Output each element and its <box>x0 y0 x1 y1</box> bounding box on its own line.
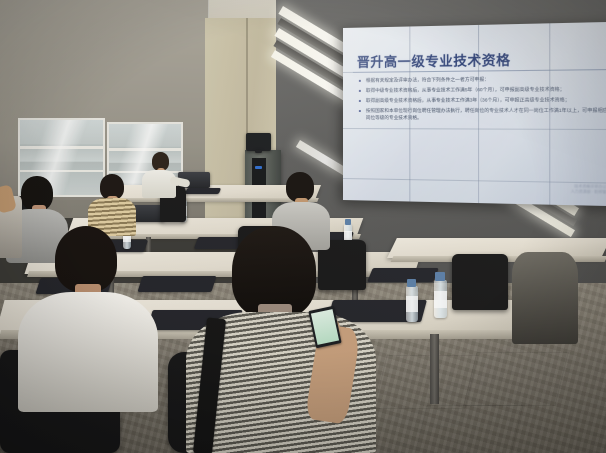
slide-title: 晋升高一级专业技术资格 <box>357 49 511 71</box>
head <box>55 226 117 292</box>
bottle-cap <box>407 279 416 287</box>
office-chair[interactable] <box>452 254 508 310</box>
carpet-tile <box>373 355 478 409</box>
rack-monitor-stand <box>255 150 262 153</box>
carpet-tile <box>414 405 524 453</box>
torso <box>18 292 158 412</box>
slide-body: 根据有关规定及评审办法，符合下列条件之一者方可申报： 取得中级专业技术资格后，从… <box>359 75 606 125</box>
slide-bullet: 取得中级专业技术资格后，从事专业技术工作满5年（60个月），可申报副高级专业技术… <box>359 86 606 94</box>
panel-seam <box>409 26 410 201</box>
slide-bullet: 取得副高级专业技术资格后，从事专业技术工作满3年（36个月），可申报正高级专业技… <box>359 97 606 105</box>
rack-status-led <box>255 166 262 169</box>
slide-footnote: 技术资格评审办公室 人力资源部 · 职称管理 <box>571 184 606 195</box>
panel-seam <box>549 23 550 204</box>
slide-bullet: 按照国家和本单位现行岗位聘任管理办法执行，聘任岗位的专业技术人才在同一岗位工作满… <box>359 108 606 122</box>
led-video-wall[interactable]: 晋升高一级专业技术资格 根据有关规定及评审办法，符合下列条件之一者方可申报： 取… <box>343 22 606 207</box>
bottle-cap <box>345 219 351 225</box>
bottle-label <box>406 296 418 312</box>
bottle-cap <box>435 272 445 281</box>
slide-footnote-line-2: 人力资源部 · 职称管理 <box>571 189 606 195</box>
water-bottle[interactable] <box>406 286 418 322</box>
meeting-room-photo: 晋升高一级专业技术资格 根据有关规定及评审办法，符合下列条件之一者方可申报： 取… <box>0 0 606 453</box>
desk-mat <box>367 268 439 282</box>
torso <box>512 252 578 344</box>
desk-mat <box>185 188 221 194</box>
bottle-label <box>434 291 447 308</box>
water-bottle[interactable] <box>434 280 447 318</box>
slide-bullet: 根据有关规定及评审办法，符合下列条件之一者方可申报： <box>359 75 606 84</box>
desk-mat <box>137 276 216 292</box>
rack-monitor <box>246 133 271 151</box>
table-leg <box>430 334 439 404</box>
phone-screen[interactable] <box>311 309 339 345</box>
carpet-tile <box>463 352 568 406</box>
panel-seam <box>478 25 479 203</box>
